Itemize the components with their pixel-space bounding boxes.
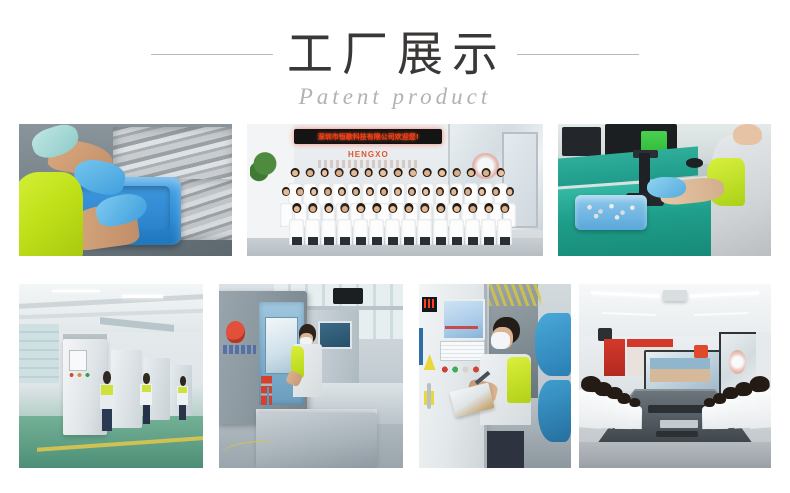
- group-photo-person: [401, 203, 416, 245]
- photo-quality-record[interactable]: Technician with clipboard recording read…: [419, 284, 571, 468]
- page-subtitle: Patent product: [0, 84, 790, 110]
- photo-production-line[interactable]: Automated production line with white mac…: [19, 284, 203, 468]
- photo-microscope-inspection[interactable]: Operator at a green anti-static bench in…: [558, 124, 771, 256]
- group-photo-person: [433, 203, 448, 245]
- group-photo-person: [337, 203, 352, 245]
- group-photo-person: [369, 203, 384, 245]
- wall-logo: HENGXO: [330, 149, 407, 160]
- group-photo-person: [497, 203, 512, 245]
- photo-parts-sorting[interactable]: Worker in yellow-green vest and blue nit…: [19, 124, 232, 256]
- photo-cnc-machining[interactable]: Operator in mask working at a blue-grey …: [219, 284, 403, 468]
- group-photo-person: [385, 203, 400, 245]
- group-photo-person: [353, 203, 368, 245]
- page-header: 工厂展示 Patent product: [0, 0, 790, 118]
- photo-company-group[interactable]: HENGXO 深圳市恒歌科技有限公司欢迎您! Company group pho…: [247, 124, 543, 256]
- meeting-attendee: [702, 398, 718, 429]
- group-row-front: [283, 203, 520, 245]
- factory-showcase-page: 工厂展示 Patent product Worker in yellow-gre…: [0, 0, 790, 493]
- group-photo-person: [289, 203, 304, 245]
- title-rule-left: [151, 54, 273, 55]
- led-banner-text: 深圳市恒歌科技有限公司欢迎您!: [294, 129, 442, 144]
- photo-meeting-room[interactable]: Staff meeting around a conference table …: [579, 284, 771, 468]
- page-title: 工厂展示: [287, 27, 507, 81]
- group-photo-person: [305, 203, 320, 245]
- group-photo-person: [449, 203, 464, 245]
- group-photo-person: [417, 203, 432, 245]
- group-photo-person: [465, 203, 480, 245]
- title-row: 工厂展示: [0, 26, 790, 82]
- group-photo-person: [481, 203, 496, 245]
- meeting-attendees-right: [579, 284, 771, 468]
- title-rule-right: [517, 54, 639, 55]
- group-photo-person: [321, 203, 336, 245]
